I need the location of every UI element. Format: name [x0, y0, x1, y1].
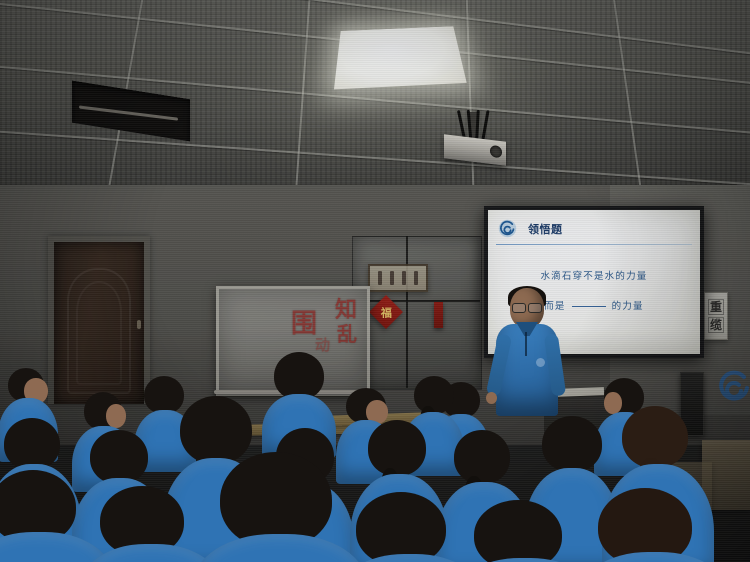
door-knob[interactable]	[137, 320, 141, 329]
slide-line2-suffix: 的力量	[612, 301, 644, 312]
slide-fill-in-blank	[572, 306, 606, 307]
face	[106, 404, 126, 428]
glass-mullion-vertical	[406, 236, 408, 388]
slide-title: 领悟题	[528, 221, 563, 237]
presenter-left-hand	[486, 392, 497, 404]
glass-mullion-horizontal	[352, 300, 480, 302]
ceiling-projector	[444, 112, 514, 168]
fu-character: 福	[381, 304, 392, 320]
head	[474, 500, 562, 562]
head	[4, 418, 60, 470]
audience-member	[464, 500, 584, 562]
slide-title-rule	[496, 244, 692, 245]
head	[598, 488, 692, 562]
photo-scene: 福 围 动 知 乱 重 缆	[0, 0, 750, 562]
presenter-glasses	[512, 303, 542, 311]
whiteboard-mark-3: 知	[335, 299, 357, 321]
whiteboard-mark-4: 乱	[337, 325, 357, 345]
uniform-torso	[452, 558, 598, 562]
head	[368, 420, 426, 476]
door-panel-inner	[76, 281, 123, 385]
door[interactable]	[54, 242, 144, 404]
presenter-placket	[525, 332, 527, 356]
wall-vertical-sign: 重 缆	[704, 292, 728, 340]
head	[274, 352, 324, 400]
slide-swirl-logo-icon	[498, 219, 517, 238]
uniform-torso	[576, 552, 732, 562]
vertical-sign-char-top: 重	[708, 299, 724, 315]
wall-swirl-logo-icon	[718, 368, 750, 406]
audience-member	[92, 486, 208, 562]
head	[414, 376, 454, 414]
presenter	[496, 288, 558, 418]
head	[356, 492, 446, 562]
audience-member	[208, 452, 348, 562]
presenter-chest-logo	[536, 358, 545, 367]
led-panel-light	[334, 26, 467, 89]
red-banner	[434, 302, 443, 328]
whiteboard-mark-1: 围	[291, 311, 317, 337]
slide-body-line-1: 水滴石穿不是水的力量	[488, 268, 700, 282]
audience-member	[348, 492, 468, 562]
head	[454, 430, 510, 484]
audience-member	[586, 488, 716, 562]
uniform-torso	[192, 534, 368, 562]
audience-member	[0, 470, 100, 562]
calligraphy-scroll	[368, 264, 428, 292]
ceiling	[0, 0, 750, 215]
head	[542, 416, 602, 472]
vertical-sign-char-bottom: 缆	[708, 317, 724, 333]
